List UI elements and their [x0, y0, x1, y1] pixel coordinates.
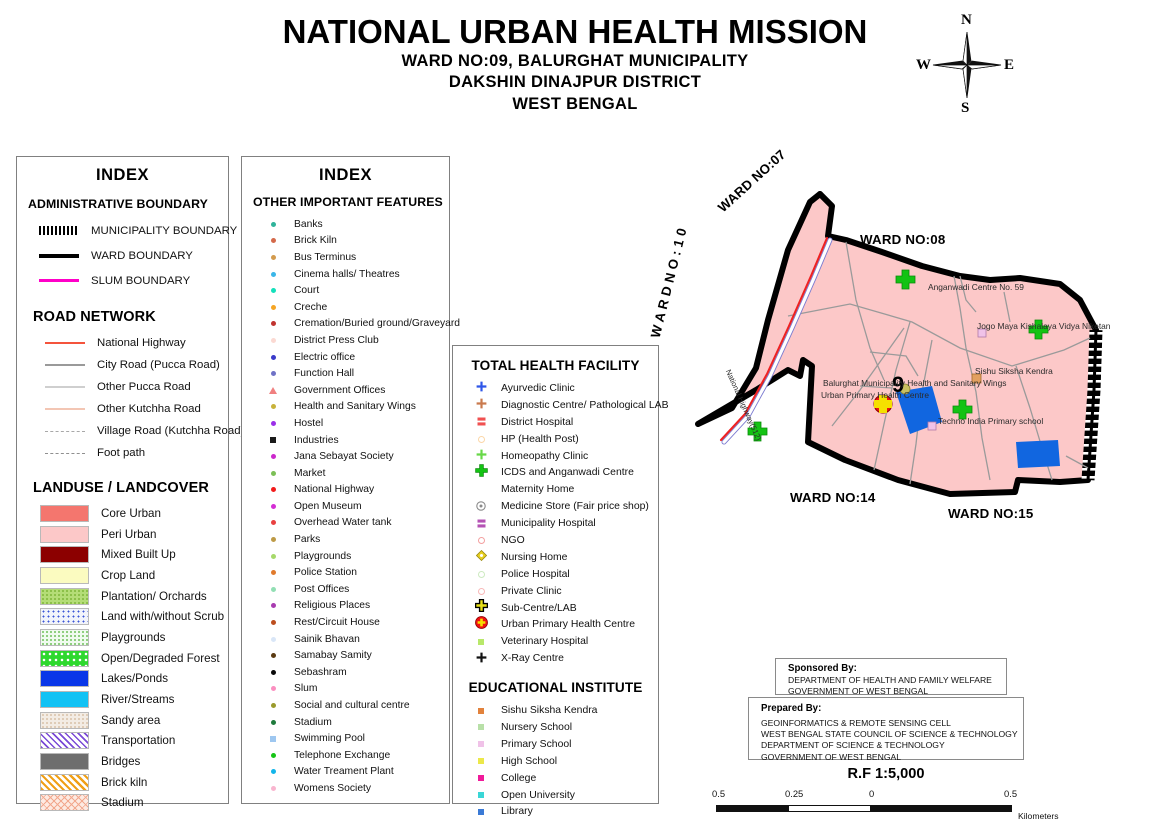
other-features-heading: OTHER IMPORTANT FEATURES	[253, 195, 449, 209]
sq-icon	[478, 724, 484, 730]
scale-tick-2: 0	[869, 788, 874, 799]
feature-legend-label: Industries	[294, 435, 339, 446]
feature-symbol	[256, 549, 290, 563]
feature-symbol	[256, 383, 290, 397]
slum-boundary-icon	[39, 279, 79, 282]
edu-legend-label: Nursery School	[501, 722, 572, 733]
landuse-swatch	[40, 629, 89, 646]
compass-rose: N E S W	[908, 12, 1026, 118]
edu-legend-row: High School	[453, 753, 658, 770]
landuse-swatch	[40, 608, 89, 625]
feature-symbol	[256, 649, 290, 663]
compass-east-label: E	[1004, 57, 1014, 74]
road-network-legend: National HighwayCity Road (Pucca Road)Ot…	[17, 332, 228, 464]
feature-symbol	[256, 765, 290, 779]
feature-legend-label: Creche	[294, 302, 327, 313]
feature-legend-label: Samabay Samity	[294, 650, 372, 661]
feature-symbol	[256, 499, 290, 513]
health-legend-label: Diagnostic Centre/ Pathological LAB	[501, 400, 669, 411]
landuse-legend-row: Peri Urban	[17, 524, 228, 545]
ring-icon	[478, 436, 485, 443]
lake-east	[1016, 440, 1060, 468]
plus-small-icon	[476, 447, 487, 465]
health-legend-label: X-Ray Centre	[501, 653, 564, 664]
dot-icon	[271, 570, 276, 575]
landuse-swatch	[40, 712, 89, 729]
feature-legend-row: Cinema halls/ Theatres	[242, 266, 449, 283]
edu-legend-label: Primary School	[501, 739, 571, 750]
dot-icon	[271, 305, 276, 310]
health-legend-label: ICDS and Anganwadi Centre	[501, 467, 634, 478]
dot-icon	[271, 321, 276, 326]
dot-icon	[271, 520, 276, 525]
scale-tick-1: 0.25	[785, 788, 803, 799]
edu-symbol	[463, 771, 499, 786]
landuse-swatch	[40, 774, 89, 791]
feature-legend-row: Government Offices	[242, 382, 449, 399]
feature-legend-row: Sebashram	[242, 664, 449, 681]
edu-legend-label: Open University	[501, 790, 575, 801]
sq-icon	[478, 708, 484, 714]
feature-legend-row: Function Hall	[242, 365, 449, 382]
dot-icon	[271, 288, 276, 293]
health-legend-label: Ayurvedic Clinic	[501, 383, 575, 394]
landuse-swatch	[40, 794, 89, 811]
feature-legend-row: Market	[242, 465, 449, 482]
feature-legend-label: Playgrounds	[294, 551, 351, 562]
feature-symbol	[256, 217, 290, 231]
road-legend-row: National Highway	[17, 332, 228, 354]
dot-icon	[271, 653, 276, 658]
health-symbol	[463, 550, 499, 565]
health-symbol	[463, 482, 499, 497]
feature-legend-row: Telephone Exchange	[242, 747, 449, 764]
health-legend-row: Ayurvedic Clinic	[453, 380, 658, 397]
feature-symbol	[256, 781, 290, 795]
ward-name-label: WARD NO:14	[790, 490, 875, 505]
feature-legend-label: Overhead Water tank	[294, 517, 391, 528]
feature-legend-row: Banks	[242, 216, 449, 233]
feature-symbol	[256, 566, 290, 580]
plus-small-icon	[476, 396, 487, 414]
sq-bar-icon	[477, 413, 486, 431]
feature-legend-row: District Press Club	[242, 332, 449, 349]
health-legend-row: X-Ray Centre	[453, 650, 658, 667]
dot-icon	[271, 504, 276, 509]
edu-symbol	[463, 703, 499, 718]
feature-legend-label: Womens Society	[294, 783, 371, 794]
landuse-legend-label: River/Streams	[101, 693, 174, 706]
scale-units-label: Kilometers	[1018, 811, 1059, 821]
feature-symbol	[256, 516, 290, 530]
landuse-swatch	[40, 691, 89, 708]
scale-segment-1	[716, 805, 788, 812]
landuse-legend-label: Crop Land	[101, 569, 155, 582]
compass-north-label: N	[961, 12, 972, 29]
landuse-legend-label: Mixed Built Up	[101, 548, 176, 561]
landuse-legend-row: Plantation/ Orchards	[17, 586, 228, 607]
dot-icon	[271, 255, 276, 260]
road-legend-label: National Highway	[97, 337, 186, 349]
road-legend-label: Village Road (Kutchha Road)	[97, 425, 244, 437]
feature-legend-row: Overhead Water tank	[242, 515, 449, 532]
feature-legend-label: Open Museum	[294, 501, 362, 512]
prepared-by-heading: Prepared By:	[761, 703, 1023, 715]
ring-icon	[478, 588, 485, 595]
health-legend-row: ICDS and Anganwadi Centre	[453, 464, 658, 481]
health-symbol	[463, 533, 499, 548]
road-legend-row: Other Kutchha Road	[17, 398, 228, 420]
sponsored-by-heading: Sponsored By:	[788, 663, 1006, 675]
feature-symbol	[256, 433, 290, 447]
feature-legend-label: Electric office	[294, 352, 355, 363]
uphc-icon	[475, 616, 488, 634]
feature-legend-label: Cinema halls/ Theatres	[294, 269, 400, 280]
dot-icon	[271, 620, 276, 625]
admin-legend-row: SLUM BOUNDARY	[17, 268, 228, 293]
feature-symbol	[256, 616, 290, 630]
health-legend-row: Homeopathy Clinic	[453, 448, 658, 465]
landuse-legend-row: Land with/without Scrub	[17, 606, 228, 627]
index-mid-title: INDEX	[242, 166, 449, 185]
landuse-swatch	[40, 526, 89, 543]
dot-icon	[271, 454, 276, 459]
landuse-swatch	[40, 588, 89, 605]
dot-icon	[271, 753, 276, 758]
landuse-legend-row: Lakes/Ponds	[17, 669, 228, 690]
ward-map[interactable]: 9 WARD NO:07WARD NO:08W A R D N O : 1 0W…	[660, 180, 1140, 540]
feature-symbol	[256, 632, 290, 646]
scale-segment-3	[870, 805, 1012, 812]
feature-legend-label: Court	[294, 285, 319, 296]
sq-icon	[478, 792, 484, 798]
landuse-legend-row: Playgrounds	[17, 627, 228, 648]
feature-legend-row: Post Offices	[242, 581, 449, 598]
road-legend-row: Foot path	[17, 442, 228, 464]
scale-segment-2	[788, 805, 872, 812]
health-legend-row: Municipality Hospital	[453, 515, 658, 532]
landuse-legend-row: River/Streams	[17, 689, 228, 710]
dot-icon	[271, 421, 276, 426]
sponsored-by-line: DEPARTMENT OF HEALTH AND FAMILY WELFARE	[788, 675, 1006, 686]
feature-symbol	[256, 450, 290, 464]
edu-symbol	[463, 804, 499, 819]
road-network-heading: ROAD NETWORK	[33, 309, 228, 325]
edu-legend-row: Nursery School	[453, 719, 658, 736]
feature-legend-label: Health and Sanitary Wings	[294, 401, 416, 412]
edu-legend-row: College	[453, 770, 658, 787]
feature-legend-label: Slum	[294, 683, 317, 694]
feature-legend-label: Post Offices	[294, 584, 349, 595]
feature-legend-label: Brick Kiln	[294, 235, 337, 246]
health-legend-label: Maternity Home	[501, 484, 574, 495]
edu-legend-label: High School	[501, 756, 557, 767]
health-symbol	[463, 415, 499, 430]
feature-symbol	[256, 682, 290, 696]
feature-legend-label: Market	[294, 468, 325, 479]
ring-icon	[478, 537, 485, 544]
edu-symbol	[463, 737, 499, 752]
dot-icon	[271, 786, 276, 791]
health-symbol	[463, 567, 499, 582]
feature-legend-row: Religious Places	[242, 598, 449, 615]
feature-symbol	[256, 533, 290, 547]
feature-legend-label: Sainik Bhavan	[294, 634, 360, 645]
school-marker-techno-india[interactable]	[928, 422, 936, 430]
feature-legend-label: Jana Sebayat Society	[294, 451, 394, 462]
edu-legend-row: Library	[453, 803, 658, 820]
boundary-swatch	[39, 226, 83, 235]
feature-symbol	[256, 284, 290, 298]
road-legend-label: City Road (Pucca Road)	[97, 359, 220, 371]
health-legend-label: NGO	[501, 535, 525, 546]
road-legend-row: City Road (Pucca Road)	[17, 354, 228, 376]
map-feature-label: Techno India Primary school	[938, 416, 1043, 426]
dot-icon	[271, 222, 276, 227]
feature-legend-label: Function Hall	[294, 368, 354, 379]
feature-legend-row: Court	[242, 282, 449, 299]
feature-legend-row: Swimming Pool	[242, 730, 449, 747]
feature-legend-row: Sainik Bhavan	[242, 631, 449, 648]
dot-icon	[271, 371, 276, 376]
feature-legend-row: Stadium	[242, 714, 449, 731]
compass-west-label: W	[916, 57, 931, 74]
health-legend-row: Private Clinic	[453, 583, 658, 600]
dot-icon	[271, 686, 276, 691]
health-legend-label: Municipality Hospital	[501, 518, 596, 529]
index-panel-left: INDEX ADMINISTRATIVE BOUNDARY MUNICIPALI…	[16, 156, 229, 804]
plus-small-icon	[476, 650, 487, 668]
health-legend-row: Diagnostic Centre/ Pathological LAB	[453, 397, 658, 414]
edu-legend-label: Sishu Siksha Kendra	[501, 705, 597, 716]
feature-legend-row: Industries	[242, 432, 449, 449]
feature-legend-row: Open Museum	[242, 498, 449, 515]
road-legend-label: Other Kutchha Road	[97, 403, 201, 415]
health-symbol	[463, 398, 499, 413]
feature-legend-row: Health and Sanitary Wings	[242, 399, 449, 416]
landuse-swatch	[40, 753, 89, 770]
feature-legend-row: Police Station	[242, 564, 449, 581]
road-swatch	[45, 342, 89, 344]
road-line-icon	[45, 364, 85, 365]
sq-icon	[478, 775, 484, 781]
dot-icon	[271, 487, 276, 492]
sponsored-by-box: Sponsored By: DEPARTMENT OF HEALTH AND F…	[775, 658, 1007, 695]
prepared-by-line: GOVERNMENT OF WEST BENGAL	[761, 752, 1023, 763]
health-legend-row: Maternity Home	[453, 481, 658, 498]
health-symbol	[463, 634, 499, 649]
plus-outline-icon	[475, 599, 488, 617]
dot-icon	[271, 637, 276, 642]
landuse-legend-label: Transportation	[101, 734, 175, 747]
feature-legend-row: Womens Society	[242, 780, 449, 797]
landuse-legend-row: Mixed Built Up	[17, 544, 228, 565]
feature-symbol	[256, 416, 290, 430]
feature-legend-label: National Highway	[294, 484, 374, 495]
landuse-swatch	[40, 650, 89, 667]
landuse-legend: Core UrbanPeri UrbanMixed Built UpCrop L…	[17, 503, 228, 813]
road-swatch	[45, 453, 89, 454]
feature-symbol	[256, 582, 290, 596]
landuse-legend-row: Sandy area	[17, 710, 228, 731]
edu-symbol	[463, 754, 499, 769]
landuse-legend-row: Open/Degraded Forest	[17, 648, 228, 669]
educational-institute-heading: EDUCATIONAL INSTITUTE	[453, 680, 658, 695]
road-legend-label: Other Pucca Road	[97, 381, 191, 393]
feature-legend-row: Samabay Samity	[242, 647, 449, 664]
feature-legend-row: Parks	[242, 531, 449, 548]
representative-fraction-label: R.F 1:5,000	[748, 766, 1024, 782]
admin-legend-row: MUNICIPALITY BOUNDARY	[17, 218, 228, 243]
edu-legend-row: Primary School	[453, 736, 658, 753]
feature-legend-row: Playgrounds	[242, 548, 449, 565]
health-symbol	[463, 449, 499, 464]
health-legend-row: Medicine Store (Fair price shop)	[453, 498, 658, 515]
landuse-swatch	[40, 567, 89, 584]
dot-icon	[271, 670, 276, 675]
feature-legend-row: Jana Sebayat Society	[242, 448, 449, 465]
feature-symbol	[256, 333, 290, 347]
sponsored-by-line: GOVERNMENT OF WEST BENGAL	[788, 686, 1006, 697]
sponsored-by-lines: DEPARTMENT OF HEALTH AND FAMILY WELFAREG…	[788, 675, 1006, 697]
dot-icon	[271, 537, 276, 542]
feature-legend-label: Government Offices	[294, 385, 385, 396]
health-symbol	[463, 651, 499, 666]
road-legend-row: Other Pucca Road	[17, 376, 228, 398]
landuse-legend-label: Land with/without Scrub	[101, 610, 224, 623]
landuse-swatch	[40, 546, 89, 563]
landuse-legend-label: Core Urban	[101, 507, 161, 520]
feature-symbol	[256, 267, 290, 281]
health-legend-label: Veterinary Hospital	[501, 636, 588, 647]
health-symbol	[463, 601, 499, 616]
admin-legend-label: MUNICIPALITY BOUNDARY	[91, 225, 237, 237]
health-legend-label: District Hospital	[501, 417, 573, 428]
feature-symbol	[256, 732, 290, 746]
health-facility-heading: TOTAL HEALTH FACILITY	[453, 358, 658, 373]
feature-legend-label: Rest/Circuit House	[294, 617, 380, 628]
feature-symbol	[256, 400, 290, 414]
prepared-by-box: Prepared By: GEOINFORMATICS & REMOTE SEN…	[748, 697, 1024, 760]
health-legend-label: HP (Health Post)	[501, 434, 579, 445]
feature-legend-label: Stadium	[294, 717, 332, 728]
health-legend-label: Nursing Home	[501, 552, 567, 563]
educational-institute-legend: Sishu Siksha KendraNursery SchoolPrimary…	[453, 702, 658, 820]
admin-boundary-legend: MUNICIPALITY BOUNDARYWARD BOUNDARYSLUM B…	[17, 218, 228, 293]
dot-icon	[271, 404, 276, 409]
road-swatch	[45, 364, 89, 365]
landuse-legend-row: Transportation	[17, 731, 228, 752]
road-line-icon	[45, 342, 85, 344]
feature-legend-row: Slum	[242, 681, 449, 698]
index-panel-middle: INDEX OTHER IMPORTANT FEATURES BanksBric…	[241, 156, 450, 804]
edu-legend-label: Library	[501, 806, 533, 817]
target-icon	[476, 498, 486, 516]
health-legend-row: Urban Primary Health Centre	[453, 616, 658, 633]
feature-legend-label: Hostel	[294, 418, 323, 429]
dot-icon	[271, 587, 276, 592]
dot-icon	[271, 603, 276, 608]
health-facility-legend: Ayurvedic ClinicDiagnostic Centre/ Patho…	[453, 380, 658, 667]
health-legend-label: Sub-Centre/LAB	[501, 603, 577, 614]
sq-icon	[478, 741, 484, 747]
feature-legend-label: Banks	[294, 219, 323, 230]
scale-tick-3: 0.5	[1004, 788, 1017, 799]
landuse-legend-label: Peri Urban	[101, 528, 156, 541]
prepared-by-line: GEOINFORMATICS & REMOTE SENSING CELL	[761, 718, 1023, 729]
health-legend-label: Homeopathy Clinic	[501, 451, 588, 462]
edu-legend-row: Sishu Siksha Kendra	[453, 702, 658, 719]
landuse-legend-label: Sandy area	[101, 714, 160, 727]
feature-legend-row: National Highway	[242, 482, 449, 499]
feature-symbol	[256, 483, 290, 497]
health-symbol	[463, 516, 499, 531]
health-legend-row: Police Hospital	[453, 566, 658, 583]
edu-legend-row: Open University	[453, 787, 658, 804]
feature-legend-row: Rest/Circuit House	[242, 614, 449, 631]
feature-legend-row: Bus Terminus	[242, 249, 449, 266]
ward-name-label: WARD NO:15	[948, 506, 1033, 521]
feature-symbol	[256, 665, 290, 679]
index-left-title: INDEX	[17, 166, 228, 185]
feature-legend-row: Cremation/Buried ground/Graveyard	[242, 316, 449, 333]
landuse-legend-row: Core Urban	[17, 503, 228, 524]
prepared-by-line: WEST BENGAL STATE COUNCIL OF SCIENCE & T…	[761, 729, 1023, 740]
feature-symbol	[256, 599, 290, 613]
landuse-heading: LANDUSE / LANDCOVER	[33, 480, 228, 496]
health-legend-row: HP (Health Post)	[453, 431, 658, 448]
map-feature-label: Balurghat Municipality Health and Sanita…	[823, 378, 1006, 388]
dot-icon	[271, 720, 276, 725]
plus-small-icon	[476, 379, 487, 397]
health-symbol	[463, 499, 499, 514]
landuse-legend-label: Brick kiln	[101, 776, 147, 789]
health-legend-row: Sub-Centre/LAB	[453, 600, 658, 617]
feature-legend-row: Social and cultural centre	[242, 697, 449, 714]
road-line-icon	[45, 431, 85, 432]
road-legend-label: Foot path	[97, 447, 145, 459]
landuse-swatch	[40, 732, 89, 749]
feature-legend-label: Sebashram	[294, 667, 347, 678]
sq-icon	[270, 736, 276, 742]
health-legend-label: Private Clinic	[501, 586, 562, 597]
feature-legend-label: Water Treament Plant	[294, 766, 394, 777]
dot-icon	[271, 338, 276, 343]
feature-symbol	[256, 317, 290, 331]
ring-icon	[478, 571, 485, 578]
feature-legend-row: Hostel	[242, 415, 449, 432]
map-feature-label: Anganwadi Centre No. 59	[928, 282, 1024, 292]
feature-legend-label: Police Station	[294, 567, 357, 578]
health-symbol	[463, 465, 499, 480]
health-symbol	[463, 584, 499, 599]
dot-icon	[271, 238, 276, 243]
prepared-by-lines: GEOINFORMATICS & REMOTE SENSING CELLWEST…	[761, 718, 1023, 763]
feature-legend-label: Religious Places	[294, 600, 370, 611]
feature-symbol	[256, 350, 290, 364]
landuse-legend-label: Plantation/ Orchards	[101, 590, 207, 603]
dot-icon	[271, 355, 276, 360]
sq-bar-icon	[477, 515, 486, 533]
ward-name-label: WARD NO:08	[860, 232, 945, 247]
other-features-legend: BanksBrick KilnBus TerminusCinema halls/…	[242, 216, 449, 797]
feature-symbol	[256, 367, 290, 381]
road-swatch	[45, 386, 89, 387]
landuse-legend-row: Bridges	[17, 751, 228, 772]
feature-symbol	[256, 250, 290, 264]
ward-boundary-icon	[39, 254, 79, 258]
landuse-legend-label: Playgrounds	[101, 631, 165, 644]
